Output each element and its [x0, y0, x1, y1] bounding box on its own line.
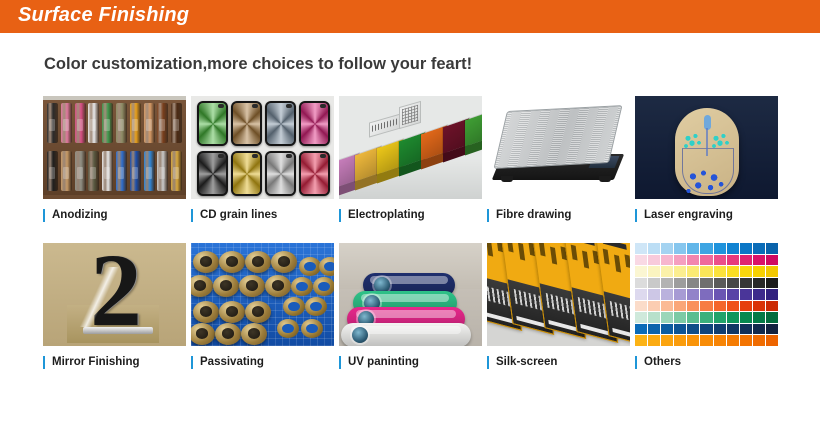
cd-grain-lines-thumbnail[interactable] [191, 96, 334, 199]
accent-tick [339, 209, 341, 222]
label-silk-screen: Silk-screen [496, 356, 557, 368]
grid-item-cd-grain-lines[interactable]: CD grain lines [191, 96, 334, 224]
silk-screen-thumbnail[interactable] [487, 243, 630, 346]
caption-uv-painting: UV paninting [339, 355, 482, 371]
label-passivating: Passivating [200, 356, 264, 368]
accent-tick [43, 356, 45, 369]
uv-painting-thumbnail[interactable] [339, 243, 482, 346]
label-cd-grain-lines: CD grain lines [200, 209, 277, 221]
surface-finishing-page: Surface Finishing Color customization,mo… [0, 0, 820, 426]
grid-item-uv-painting[interactable]: UV paninting [339, 243, 482, 371]
fibre-drawing-thumbnail[interactable] [487, 96, 630, 199]
caption-passivating: Passivating [191, 355, 334, 371]
label-anodizing: Anodizing [52, 209, 108, 221]
brass-bushings-image [191, 243, 334, 346]
mirror-finishing-thumbnail[interactable]: 2 [43, 243, 186, 346]
grid-item-silk-screen[interactable]: Silk-screen [487, 243, 630, 371]
page-title: Surface Finishing [18, 4, 189, 27]
label-laser-engraving: Laser engraving [644, 209, 733, 221]
label-mirror-finishing: Mirror Finishing [52, 356, 140, 368]
engraved-mouse-image [635, 96, 778, 199]
grid-item-laser-engraving[interactable]: Laser engraving [635, 96, 778, 224]
caption-electroplating: Electroplating [339, 208, 482, 224]
grid-item-fibre-drawing[interactable]: Fibre drawing [487, 96, 630, 224]
accent-tick [635, 209, 637, 222]
mirror-numeral-image: 2 [43, 243, 186, 346]
accent-tick [191, 209, 193, 222]
subtitle: Color customization,more choices to foll… [44, 55, 472, 74]
label-fibre-drawing: Fibre drawing [496, 209, 571, 221]
caption-silk-screen: Silk-screen [487, 355, 630, 371]
caption-mirror-finishing: Mirror Finishing [43, 355, 186, 371]
passivating-thumbnail[interactable] [191, 243, 334, 346]
label-uv-painting: UV paninting [348, 356, 419, 368]
accent-tick [339, 356, 341, 369]
uv-painted-cases-image [339, 243, 482, 346]
grid-item-mirror-finishing[interactable]: 2 Mirror Finishing [43, 243, 186, 371]
anodized-cylinders-image [43, 96, 186, 199]
cd-grain-cases-image [191, 96, 334, 199]
accent-tick [43, 209, 45, 222]
caption-anodizing: Anodizing [43, 208, 186, 224]
accent-tick [635, 356, 637, 369]
caption-others: Others [635, 355, 778, 371]
grid-row: 2 Mirror Finishing [43, 243, 783, 390]
grid-item-passivating[interactable]: Passivating [191, 243, 334, 371]
grid-item-others[interactable]: Others [635, 243, 778, 371]
accent-tick [487, 209, 489, 222]
label-others: Others [644, 356, 681, 368]
accent-tick [487, 356, 489, 369]
others-thumbnail[interactable] [635, 243, 778, 346]
brushed-laptop-image [487, 96, 630, 199]
label-electroplating: Electroplating [348, 209, 425, 221]
silkscreen-panels-image [487, 243, 630, 346]
caption-fibre-drawing: Fibre drawing [487, 208, 630, 224]
finishing-grid: Anodizing CD grain lines [43, 96, 783, 390]
anodizing-thumbnail[interactable] [43, 96, 186, 199]
laser-engraving-thumbnail[interactable] [635, 96, 778, 199]
accent-tick [191, 356, 193, 369]
caption-laser-engraving: Laser engraving [635, 208, 778, 224]
electroplated-blocks-image [339, 96, 482, 199]
grid-item-electroplating[interactable]: Electroplating [339, 96, 482, 224]
grid-item-anodizing[interactable]: Anodizing [43, 96, 186, 224]
caption-cd-grain-lines: CD grain lines [191, 208, 334, 224]
color-swatch-chart-image [635, 243, 778, 346]
electroplating-thumbnail[interactable] [339, 96, 482, 199]
grid-row: Anodizing CD grain lines [43, 96, 783, 243]
